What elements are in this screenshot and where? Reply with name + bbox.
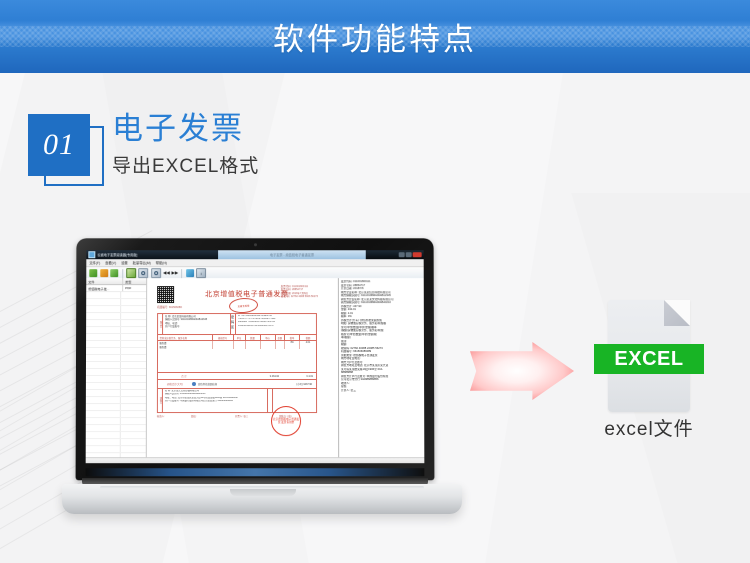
- currency-icon: [192, 382, 196, 386]
- th-goods: 货物或应税劳务、服务名称: [158, 335, 212, 340]
- buyer-bank: 开户行及账号:: [165, 325, 228, 328]
- menu-item-batch-export[interactable]: 批量导出(M): [133, 260, 151, 265]
- file-list-col-type: 类型: [123, 278, 146, 284]
- invoice-items-table: 货物或应税劳务、服务名称 规格型号 单位 数量 单价 金额 税率 税额: [157, 334, 317, 380]
- file-list-header: 文件 类型: [86, 278, 146, 285]
- th-price: 单价: [260, 335, 275, 340]
- window-menubar: 文件(F) 查看(V) 设置 批量导出(M) 帮助(H): [86, 259, 423, 267]
- invoice-checkcode: 校 验 码: 02760 4088 5906 56273: [281, 295, 318, 298]
- screen-bottom-glow: [86, 468, 425, 476]
- export-excel-icon[interactable]: [126, 268, 136, 278]
- items-table-row: 服务费: [158, 345, 316, 349]
- banner-title: 软件功能特点: [0, 0, 750, 73]
- window-controls: [366, 250, 424, 259]
- buyer-body: 名 称: 北京某某科技有限公司 纳税人识别号: 91110108MA00AB12…: [163, 314, 230, 334]
- excel-badge: EXCEL: [594, 344, 704, 374]
- total-amount: ¥ 434.02: [210, 375, 283, 378]
- save-icon[interactable]: [110, 269, 118, 277]
- footer-reviewer: 复核:: [191, 414, 235, 418]
- footer-drawer: 开票人: 张三: [235, 414, 279, 418]
- total-tax: ¥ 4.01: [283, 375, 316, 378]
- file-list-col-name: 文件: [86, 278, 123, 284]
- menu-item-file[interactable]: 文件(F): [89, 260, 100, 265]
- laptop-illustration: 长城电子发票阅读器(专用版) 电子发票 - 增值税电子普通发票 文件(F) 查看…: [62, 238, 462, 528]
- cipher-body: 87*61<1+28390/4394>/23&/4700 7/40+<3*<5>…: [236, 314, 316, 334]
- window-statusbar: [86, 457, 425, 463]
- invoice-preview-pane[interactable]: 机器编号: 661506086 北京增值税电子普通发票 发票代码: 011001…: [147, 278, 338, 458]
- invoice-document: 机器编号: 661506086 北京增值税电子普通发票 发票代码: 011001…: [153, 282, 321, 450]
- laptop-base: [62, 484, 462, 514]
- footer-seller: 销售方: (章): [279, 414, 317, 418]
- seller-bank: 开户行及账号: 中国银行股份有限公司北京某某支行 342986889999: [165, 400, 265, 403]
- text-line: 开票人: 张三: [341, 389, 423, 393]
- qr-machine-label: 机器编号: 661506086: [157, 305, 182, 309]
- menu-item-help[interactable]: 帮助(H): [156, 260, 167, 265]
- toolbar-separator-2: [181, 269, 182, 278]
- app-icon: [88, 251, 95, 258]
- invoice-text-pane[interactable]: 发票代码: 011001800111 发票号码: 28854717 开票日期: …: [338, 278, 424, 458]
- excel-file-graphic: EXCEL excel文件: [594, 300, 704, 428]
- window-workarea: 文件 类型 增值税电子发... PDF: [86, 278, 425, 458]
- invoice-stamp-top-icon: 发票专用章: [229, 297, 259, 314]
- minimize-button[interactable]: [399, 252, 405, 257]
- td-spec: [213, 345, 234, 349]
- summary-label: 价税合计(大写): [158, 382, 192, 386]
- seller-body: 名 称: 北京某艺文化传媒有限公司 纳税人识别号: 91110108MA00AB…: [163, 389, 267, 412]
- laptop-screen: 长城电子发票阅读器(专用版) 电子发票 - 增值税电子普通发票 文件(F) 查看…: [86, 250, 425, 463]
- th-qty: 数量: [246, 335, 261, 340]
- close-button[interactable]: [413, 252, 422, 257]
- th-spec: 规格型号: [213, 335, 234, 340]
- window-title-middle: 电子发票 - 增值税电子普通发票: [218, 250, 366, 259]
- th-amount: 金额: [275, 335, 284, 340]
- excel-caption: excel文件: [584, 414, 714, 441]
- page-banner: 软件功能特点: [0, 0, 750, 73]
- section-title: 电子发票: [112, 110, 244, 148]
- invoice-seal-stamp-icon: 北京增值税电子普通发票 发票专用章: [271, 406, 301, 436]
- window-title-doc: 电子发票 - 增值税电子普通发票: [270, 252, 314, 257]
- td-qty: [246, 345, 261, 349]
- file-name-cell: 增值税电子发...: [86, 285, 123, 291]
- prev-page-icon[interactable]: ◀◀: [163, 269, 169, 277]
- window-title-left: 长城电子发票阅读器(专用版): [86, 250, 218, 259]
- invoice-meta: 发票代码: 011001800111 发票号码: 28854717 开票日期: …: [281, 285, 318, 299]
- section-subtitle: 导出EXCEL格式: [112, 154, 259, 180]
- maximize-button[interactable]: [406, 252, 412, 257]
- open-folder-icon[interactable]: [100, 269, 108, 277]
- toolbar-separator-1: [122, 269, 123, 278]
- th-unit: 单位: [234, 335, 246, 340]
- items-table-total-row: 合 计 ¥ 434.02 ¥ 4.01: [158, 372, 316, 379]
- webcam-icon: [254, 243, 257, 246]
- window-titlebar: 长城电子发票阅读器(专用版) 电子发票 - 增值税电子普通发票: [86, 250, 423, 259]
- info-icon[interactable]: i: [196, 268, 206, 278]
- next-page-icon[interactable]: ▶▶: [172, 269, 178, 277]
- td-amount: [275, 345, 284, 349]
- section-number-text: 01: [43, 128, 75, 162]
- th-tax: 税额: [300, 335, 316, 340]
- menu-item-settings[interactable]: 设置: [121, 260, 128, 265]
- td-rate: [285, 345, 300, 349]
- summary-digits: (小写) ¥437.90: [266, 382, 316, 386]
- feature-section-heading: 01 电子发票 导出EXCEL格式: [28, 106, 458, 198]
- export-arrow: [470, 342, 574, 400]
- invoice-buyer-block: 购买方 名 称: 北京某某科技有限公司 纳税人识别号: 91110108MA00…: [157, 313, 317, 335]
- section-number-badge: 01: [28, 114, 90, 176]
- print-icon[interactable]: [186, 269, 194, 277]
- excel-badge-label: EXCEL: [614, 348, 683, 371]
- invoice-reader-window: 长城电子发票阅读器(专用版) 电子发票 - 增值税电子普通发票 文件(F) 查看…: [86, 250, 425, 463]
- invoice-footer: 收款人: 复核: 开票人: 张三 销售方: (章): [157, 413, 317, 419]
- file-type-cell: PDF: [123, 285, 146, 291]
- cipher-line-4: +6+23/146+65<39<20643/11.33<4*: [238, 325, 314, 328]
- zoom-out-icon[interactable]: [151, 268, 161, 278]
- menu-item-view[interactable]: 查看(V): [105, 260, 116, 265]
- open-file-icon[interactable]: [89, 269, 97, 277]
- footer-payee: 收款人:: [157, 414, 191, 418]
- window-title-text: 长城电子发票阅读器(专用版): [97, 252, 137, 257]
- td-tax: [300, 345, 316, 349]
- th-rate: 税率: [285, 335, 300, 340]
- qr-code-icon: [157, 286, 174, 303]
- laptop-front-notch: [230, 489, 296, 496]
- zoom-in-icon[interactable]: [138, 268, 148, 278]
- laptop-lid: 长城电子发票阅读器(专用版) 电子发票 - 增值税电子普通发票 文件(F) 查看…: [76, 238, 435, 480]
- summary-words: 肆佰叁拾柒圆玖角: [198, 382, 217, 386]
- file-list-row[interactable]: 增值税电子发... PDF: [86, 285, 146, 292]
- td-price: [260, 345, 275, 349]
- export-arrow-icon: [470, 342, 574, 400]
- summary-words-wrap: 肆佰叁拾柒圆玖角: [192, 382, 266, 386]
- total-label: 合 计: [158, 374, 210, 378]
- td-goods: 服务费: [158, 345, 212, 349]
- file-list-panel: 文件 类型 增值税电子发... PDF: [86, 278, 147, 458]
- td-unit: [234, 345, 246, 349]
